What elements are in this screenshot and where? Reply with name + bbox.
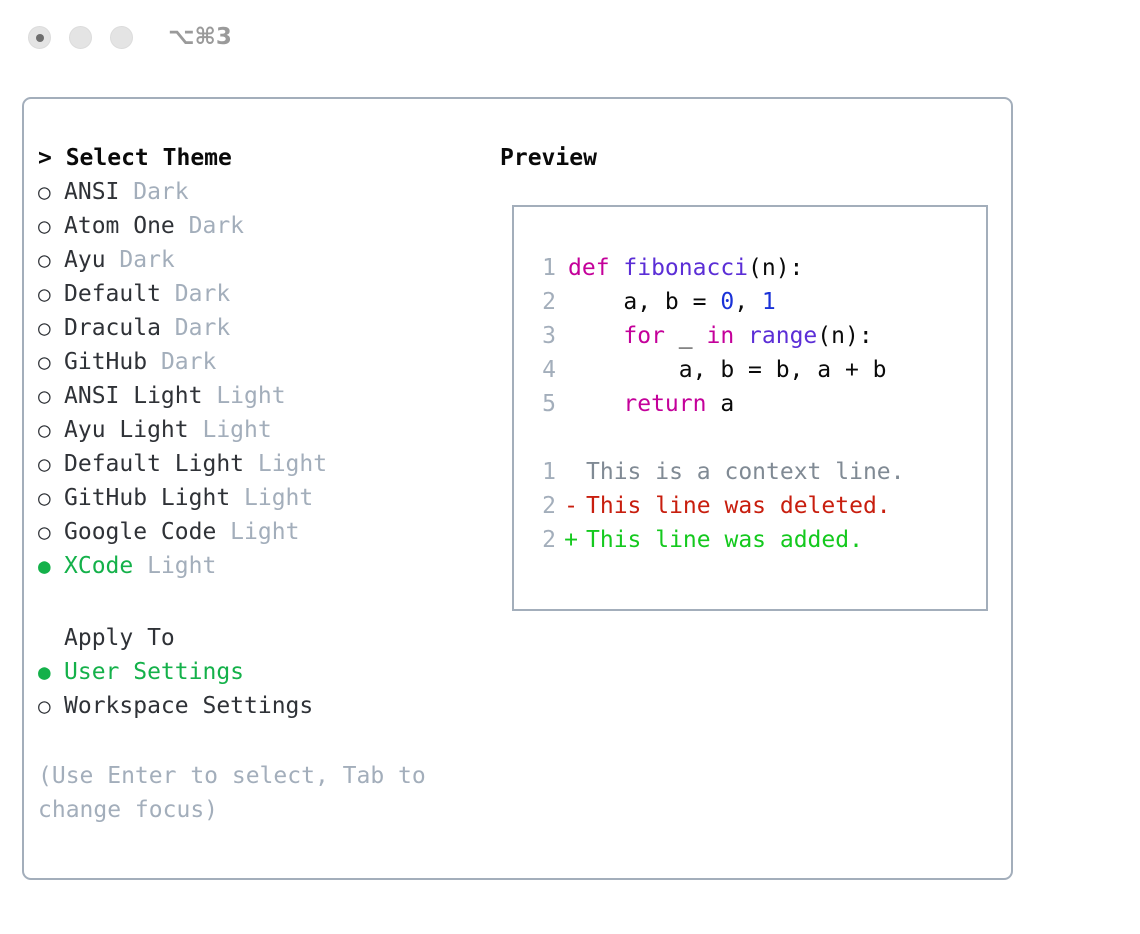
- close-button[interactable]: [28, 26, 51, 49]
- code-line-number: 5: [530, 387, 556, 421]
- theme-option-label: Default: [64, 277, 161, 311]
- theme-option-label: Google Code: [64, 515, 216, 549]
- code-token-plain: [568, 323, 623, 349]
- theme-option-default[interactable]: ○Default Dark: [38, 277, 488, 311]
- code-token-plain: [734, 323, 748, 349]
- theme-option-ayu-light[interactable]: ○Ayu Light Light: [38, 413, 488, 447]
- theme-option-ansi[interactable]: ○ANSI Dark: [38, 175, 488, 209]
- preview-title: Preview: [500, 141, 1000, 175]
- theme-option-label: Dracula: [64, 311, 161, 345]
- theme-variant-badge: Light: [189, 413, 272, 447]
- code-token-kw: in: [706, 323, 734, 349]
- code-line: 3 for _ in range(n):: [530, 319, 978, 353]
- window-title-shortcut: ⌥⌘3: [168, 24, 232, 50]
- radio-unselected-icon: ○: [38, 277, 64, 311]
- code-line-content: for _ in range(n):: [556, 323, 873, 349]
- code-token-num: 1: [762, 289, 776, 315]
- diff-line-del: 2-This line was deleted.: [530, 489, 978, 523]
- diff-line-text: This is a context line.: [586, 459, 905, 485]
- theme-option-ayu[interactable]: ○Ayu Dark: [38, 243, 488, 277]
- code-line-number: 2: [530, 285, 556, 319]
- radio-unselected-icon: ○: [38, 481, 64, 515]
- theme-variant-badge: Dark: [175, 209, 244, 243]
- radio-unselected-icon: ○: [38, 175, 64, 209]
- theme-option-label: Ayu Light: [64, 413, 189, 447]
- minimize-button[interactable]: [69, 26, 92, 49]
- theme-variant-badge: Dark: [106, 243, 175, 277]
- theme-option-label: Default Light: [64, 447, 244, 481]
- code-preview-area: 1def fibonacci(n):2 a, b = 0, 13 for _ i…: [530, 251, 978, 557]
- code-line-content: def fibonacci(n):: [556, 255, 803, 281]
- theme-option-label: ANSI: [64, 175, 119, 209]
- radio-unselected-icon: ○: [38, 515, 64, 549]
- code-line-content: return a: [556, 391, 734, 417]
- theme-variant-badge: Light: [244, 447, 327, 481]
- radio-unselected-icon: ○: [38, 379, 64, 413]
- code-token-kw: def: [568, 255, 623, 281]
- theme-option-default-light[interactable]: ○Default Light Light: [38, 447, 488, 481]
- radio-unselected-icon: ○: [38, 345, 64, 379]
- apply-to-option-workspace-settings[interactable]: ○Workspace Settings: [38, 689, 488, 723]
- code-line: 5 return a: [530, 387, 978, 421]
- title-bar: ⌥⌘3: [0, 0, 1140, 78]
- code-token-num: 0: [720, 289, 734, 315]
- theme-variant-badge: Dark: [119, 175, 188, 209]
- preview-box: 1def fibonacci(n):2 a, b = 0, 13 for _ i…: [512, 205, 988, 611]
- radio-selected-icon: ●: [38, 549, 64, 583]
- theme-option-ansi-light[interactable]: ○ANSI Light Light: [38, 379, 488, 413]
- diff-line-number: 2: [530, 523, 556, 557]
- diff-marker-icon: [556, 455, 586, 489]
- theme-option-label: Ayu: [64, 243, 106, 277]
- radio-selected-icon: ●: [38, 655, 64, 689]
- theme-variant-badge: Dark: [147, 345, 216, 379]
- code-line: 4 a, b = b, a + b: [530, 353, 978, 387]
- code-token-fn: fibonacci: [623, 255, 748, 281]
- traffic-light-group: [28, 26, 133, 49]
- theme-option-dracula[interactable]: ○Dracula Dark: [38, 311, 488, 345]
- radio-unselected-icon: ○: [38, 209, 64, 243]
- diff-marker-icon: -: [556, 489, 586, 523]
- theme-option-github-light[interactable]: ○GitHub Light Light: [38, 481, 488, 515]
- code-line-content: a, b = 0, 1: [556, 289, 776, 315]
- code-line: 2 a, b = 0, 1: [530, 285, 978, 319]
- code-token-fn: range: [748, 323, 817, 349]
- theme-variant-badge: Light: [202, 379, 285, 413]
- content-panel: > Select Theme ○ANSI Dark○Atom One Dark○…: [22, 97, 1013, 880]
- diff-line-number: 2: [530, 489, 556, 523]
- maximize-button[interactable]: [110, 26, 133, 49]
- code-token-kw: return: [623, 391, 706, 417]
- theme-option-label: XCode: [64, 549, 133, 583]
- theme-variant-badge: Light: [216, 515, 299, 549]
- app-window: ⌥⌘3 > Select Theme ○ANSI Dark○Atom One D…: [0, 0, 1140, 934]
- radio-unselected-icon: ○: [38, 689, 64, 723]
- radio-unselected-icon: ○: [38, 413, 64, 447]
- theme-option-label: GitHub: [64, 345, 147, 379]
- code-line-number: 3: [530, 319, 556, 353]
- code-line-number: 1: [530, 251, 556, 285]
- apply-to-list: ●User Settings○Workspace Settings: [38, 655, 488, 723]
- theme-list: ○ANSI Dark○Atom One Dark○Ayu Dark○Defaul…: [38, 175, 488, 583]
- code-line-number: 4: [530, 353, 556, 387]
- theme-option-xcode[interactable]: ●XCode Light: [38, 549, 488, 583]
- select-theme-header: > Select Theme: [38, 141, 488, 175]
- apply-to-option-user-settings[interactable]: ●User Settings: [38, 655, 488, 689]
- code-token-plain: _: [665, 323, 707, 349]
- code-token-plain: (n):: [748, 255, 803, 281]
- code-token-plain: (n):: [817, 323, 872, 349]
- diff-line-number: 1: [530, 455, 556, 489]
- radio-unselected-icon: ○: [38, 243, 64, 277]
- theme-variant-badge: Light: [230, 481, 313, 515]
- theme-variant-badge: Dark: [161, 311, 230, 345]
- theme-option-label: ANSI Light: [64, 379, 202, 413]
- code-token-plain: [568, 391, 623, 417]
- apply-to-option-label: Workspace Settings: [64, 689, 313, 723]
- diff-line-text: This line was deleted.: [586, 493, 891, 519]
- theme-variant-badge: Light: [133, 549, 216, 583]
- apply-to-option-label: User Settings: [64, 655, 244, 689]
- theme-variant-badge: Dark: [161, 277, 230, 311]
- theme-option-atom-one[interactable]: ○Atom One Dark: [38, 209, 488, 243]
- code-token-plain: a: [706, 391, 734, 417]
- theme-option-label: Atom One: [64, 209, 175, 243]
- diff-line-ctx: 1 This is a context line.: [530, 455, 978, 489]
- code-token-plain: a, b = b, a + b: [568, 357, 887, 383]
- diff-line-add: 2+This line was added.: [530, 523, 978, 557]
- radio-unselected-icon: ○: [38, 447, 64, 481]
- diff-line-text: This line was added.: [586, 527, 863, 553]
- code-token-plain: ,: [734, 289, 762, 315]
- code-line: 1def fibonacci(n):: [530, 251, 978, 285]
- radio-unselected-icon: ○: [38, 311, 64, 345]
- theme-option-google-code[interactable]: ○Google Code Light: [38, 515, 488, 549]
- code-line-content: a, b = b, a + b: [556, 357, 887, 383]
- apply-to-label: Apply To: [38, 621, 488, 655]
- theme-option-github[interactable]: ○GitHub Dark: [38, 345, 488, 379]
- diff-marker-icon: +: [556, 523, 586, 557]
- keyboard-hint-text: (Use Enter to select, Tab to change focu…: [38, 759, 458, 827]
- section-spacer: [38, 583, 488, 621]
- preview-column: Preview 1def fibonacci(n):2 a, b = 0, 13…: [500, 141, 1000, 175]
- theme-option-label: GitHub Light: [64, 481, 230, 515]
- code-diff-spacer: [530, 421, 978, 455]
- code-token-plain: a, b =: [568, 289, 720, 315]
- theme-selector-column: > Select Theme ○ANSI Dark○Atom One Dark○…: [38, 141, 488, 723]
- code-token-kw: for: [623, 323, 665, 349]
